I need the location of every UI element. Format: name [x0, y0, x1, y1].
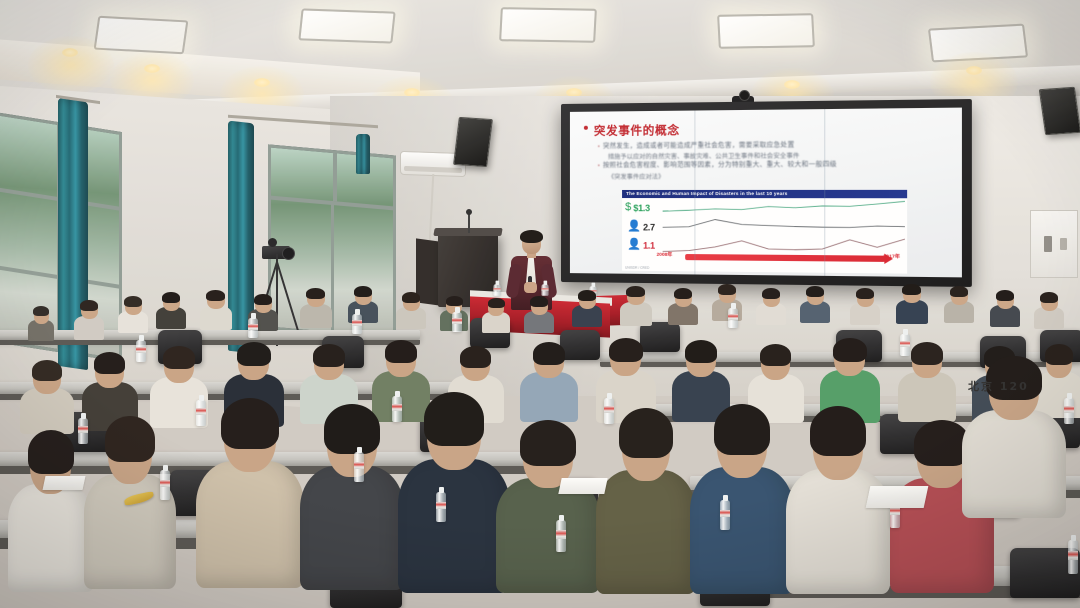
person-hair — [1040, 292, 1058, 303]
notepad — [866, 486, 929, 508]
person-hair — [354, 286, 372, 297]
water-bottle — [900, 334, 910, 356]
person-hair — [306, 288, 325, 299]
person-hair — [402, 292, 420, 303]
person-torso — [898, 372, 956, 422]
person-torso — [596, 470, 696, 594]
audience-person — [800, 286, 830, 322]
person-hair — [385, 340, 417, 363]
person-hair — [28, 430, 74, 474]
slide-title: 突发事件的概念 — [594, 122, 680, 139]
water-bottle — [248, 318, 258, 338]
audience-person-foreground — [300, 404, 404, 576]
wall-speaker-left — [453, 117, 493, 167]
water-bottle — [136, 340, 146, 362]
presenter-hand — [524, 282, 537, 293]
video-wall-display: 突发事件的概念 突然发生，造成或者可能造成严重社会危害，需要采取应急处置 措施予… — [561, 99, 972, 287]
audience-person — [850, 288, 880, 324]
person-hair — [806, 286, 824, 297]
person-hair — [446, 296, 463, 306]
person-hair — [163, 346, 195, 369]
audience-person — [156, 292, 186, 328]
person-torso — [520, 372, 578, 422]
person-hair — [105, 416, 155, 462]
person-icon: 👤 — [627, 221, 641, 232]
ceiling-light-panel — [298, 8, 395, 43]
water-bottle — [1064, 398, 1074, 424]
chart-metric-deaths: 👤 1.1 — [627, 239, 655, 250]
person-hair — [619, 408, 673, 458]
water-bottle — [541, 284, 548, 296]
audience-person — [944, 286, 974, 322]
audience-person — [118, 296, 148, 332]
lectern-microphone — [468, 213, 470, 233]
water-bottle — [196, 400, 206, 426]
audience-person-foreground — [496, 420, 600, 580]
person-hair — [856, 288, 874, 299]
person-torso — [8, 484, 94, 592]
person-torso — [196, 461, 304, 588]
water-bottle — [728, 308, 738, 328]
person-hair — [762, 288, 780, 299]
water-bottle — [720, 500, 730, 530]
audience-person — [990, 290, 1020, 326]
chart-title: The Economic and Human Impact of Disaste… — [626, 191, 787, 196]
timeline-end-label: 2017年 — [883, 253, 900, 260]
audience-person — [300, 288, 332, 326]
ceiling-light-panel — [717, 13, 815, 49]
audience-person — [520, 342, 578, 418]
person-hair — [94, 352, 125, 374]
person-hair — [237, 342, 271, 366]
person-hair — [760, 344, 791, 366]
person-hair — [313, 344, 345, 367]
audience-person — [620, 286, 652, 324]
chart-metric-value: $1.3 — [633, 203, 650, 213]
person-hair — [714, 404, 770, 455]
person-torso — [300, 466, 404, 590]
wall-control-panel[interactable] — [1030, 210, 1078, 278]
ceiling-light-panel — [94, 16, 189, 54]
water-bottle — [436, 492, 446, 522]
person-hair — [520, 420, 576, 466]
person-torso — [496, 478, 600, 593]
person-torso — [620, 302, 652, 326]
water-bottle — [354, 452, 364, 482]
notepad — [43, 476, 86, 490]
audience-person — [396, 292, 426, 328]
person-hair — [609, 338, 643, 362]
audience-person — [74, 300, 104, 338]
ceiling-light-panel — [499, 7, 597, 43]
presenter-hair — [520, 230, 543, 243]
person-hair — [206, 290, 225, 301]
audience-person — [20, 360, 74, 430]
slide-bullets: 突然发生，造成或者可能造成严重社会危害，需要采取应急处置 措施予以应对的自然灾害… — [598, 139, 944, 180]
chart-metric-economic: $ $1.3 — [625, 202, 650, 213]
audience-person-foreground — [196, 398, 304, 574]
person-hair — [530, 296, 548, 307]
audience-person — [896, 284, 928, 322]
person-torso — [20, 388, 74, 434]
person-hair — [911, 342, 943, 365]
water-bottle — [160, 470, 170, 500]
audience-person — [200, 290, 232, 328]
water-bottle — [556, 520, 566, 552]
person-hair — [685, 340, 717, 363]
person-torso — [962, 410, 1066, 518]
audience-person-foreground — [596, 408, 696, 580]
person-hair — [162, 292, 180, 303]
person-hair — [833, 338, 867, 362]
water-bottle — [452, 312, 462, 332]
person-torso — [398, 459, 510, 593]
ac-vent — [404, 166, 462, 173]
audience-person — [1034, 292, 1064, 328]
person-torso — [200, 306, 232, 330]
water-bottle — [392, 396, 402, 422]
chart-metric-value: 1.1 — [643, 240, 655, 250]
audience-person — [524, 296, 554, 332]
chart-footnote: UNISDR / CRED — [625, 266, 649, 270]
person-hair — [488, 298, 505, 308]
projection-screen: 突发事件的概念 突然发生，造成或者可能造成严重社会危害，需要采取应急处置 措施予… — [570, 108, 962, 278]
dollar-icon: $ — [625, 202, 631, 213]
person-hair — [626, 286, 645, 297]
chart-metric-value: 2.7 — [643, 222, 655, 232]
audience-person — [668, 288, 698, 324]
water-bottle — [493, 284, 500, 296]
person-hair — [124, 296, 142, 307]
audience-person — [482, 298, 510, 332]
audience-person — [28, 306, 54, 340]
audience-person-foreground — [398, 392, 510, 578]
notepad — [558, 478, 607, 494]
timeline-start-label: 2008年 — [657, 251, 673, 258]
timeline-arrow — [685, 254, 885, 262]
person-hair — [460, 346, 491, 368]
person-hair — [424, 392, 484, 446]
vest-text: 北京 120 — [968, 378, 1029, 394]
camera-lens-icon — [282, 247, 295, 260]
person-torso — [74, 316, 104, 340]
person-hair — [32, 360, 62, 381]
person-hair — [80, 300, 98, 311]
person-hair — [674, 288, 692, 299]
light-switch[interactable] — [1060, 238, 1067, 250]
audience-person-foreground — [8, 430, 94, 580]
person-hair — [33, 306, 49, 316]
person-hair — [221, 398, 279, 449]
downlight-glow — [28, 36, 114, 94]
person-hair — [950, 286, 968, 297]
person-hair — [902, 284, 921, 295]
slide-chart: The Economic and Human Impact of Disaste… — [622, 190, 907, 274]
person-torso — [300, 304, 332, 328]
slide-bullet-note: 《突发事件应对法》 — [608, 171, 944, 181]
person-hair — [810, 406, 866, 456]
audience-person-foreground — [690, 404, 794, 580]
chart-title-bar: The Economic and Human Impact of Disaste… — [622, 190, 907, 198]
light-switch[interactable] — [1044, 236, 1052, 252]
person-hair — [578, 290, 596, 301]
water-bottle — [78, 418, 88, 444]
lecture-hall-photo: 突发事件的概念 突然发生，造成或者可能造成严重社会危害，需要采取应急处置 措施予… — [0, 0, 1080, 608]
person-torso — [896, 300, 928, 324]
camera-top-mic — [268, 238, 277, 247]
water-bottle — [1068, 540, 1078, 574]
audience-person — [572, 290, 602, 326]
person-torso — [690, 467, 794, 594]
wall-speaker-right — [1039, 87, 1080, 136]
water-bottle — [352, 314, 362, 334]
chart-lines — [663, 199, 905, 260]
person-hair — [533, 342, 565, 365]
person-red-icon: 👤 — [627, 239, 641, 250]
chart-metric-affected: 👤 2.7 — [627, 221, 655, 232]
curtain — [356, 134, 370, 174]
person-hair — [718, 284, 736, 295]
person-hair — [324, 404, 380, 454]
audience-person — [756, 288, 786, 324]
audience-person — [82, 352, 138, 426]
person-hair — [996, 290, 1014, 301]
water-bottle — [604, 398, 614, 424]
window-mullion — [333, 153, 337, 201]
person-hair — [254, 294, 272, 305]
